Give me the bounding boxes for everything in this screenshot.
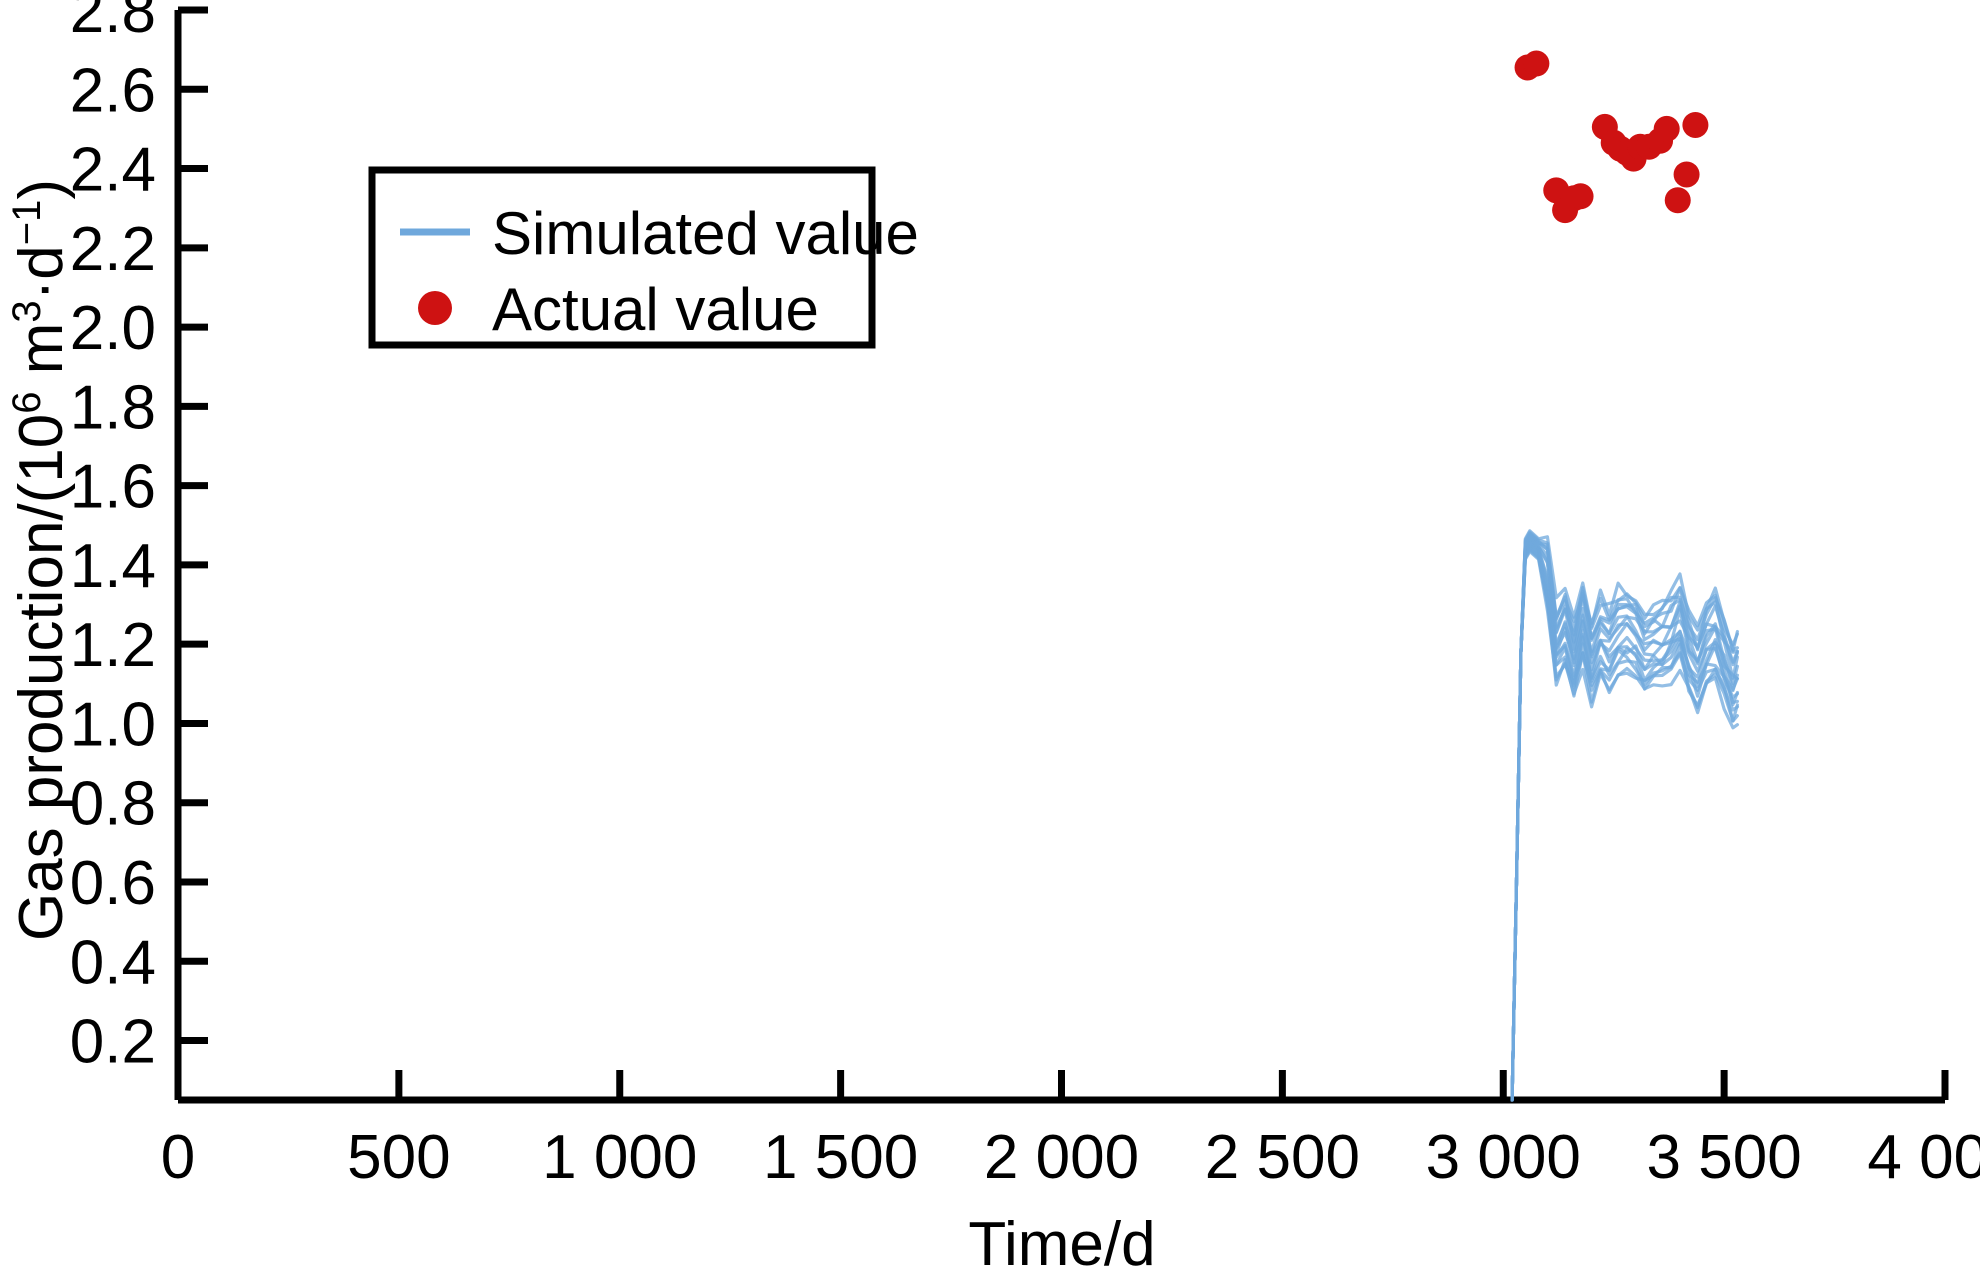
- y-tick-label: 1.0: [70, 690, 156, 759]
- y-tick-label: 2.6: [70, 56, 156, 125]
- y-title-suffix: ): [7, 179, 76, 200]
- x-tick-label: 2 500: [1205, 1123, 1360, 1192]
- chart-legend[interactable]: Simulated value Actual value: [372, 170, 919, 345]
- x-tick-label: 3 500: [1647, 1123, 1802, 1192]
- y-axis-title-text: Gas production/(106 m3·d−1): [5, 179, 76, 941]
- y-title-exp-3: 3: [5, 300, 49, 322]
- y-tick-label: 2.4: [70, 136, 156, 205]
- y-tick-label: 1.4: [70, 532, 156, 601]
- y-title-prefix: Gas production/(10: [7, 414, 76, 941]
- y-title-exp-6: 6: [5, 391, 49, 413]
- x-axis-title-text: Time/d: [968, 1210, 1155, 1279]
- chart-root: 0.20.40.60.81.01.21.41.61.82.02.22.42.62…: [0, 0, 1980, 1287]
- y-axis-title: Gas production/(106 m3·d−1): [5, 179, 76, 941]
- x-tick-label: 2 000: [984, 1123, 1139, 1192]
- y-tick-label: 0.4: [70, 928, 156, 997]
- y-tick-label: 1.6: [70, 453, 156, 522]
- x-tick-label: 0: [161, 1123, 195, 1192]
- actual-value-point: [1674, 161, 1700, 187]
- y-tick-label: 1.8: [70, 373, 156, 442]
- x-tick-label: 3 000: [1426, 1123, 1581, 1192]
- y-title-exp-minus1: −1: [5, 200, 49, 246]
- y-tick-label: 0.2: [70, 1008, 156, 1077]
- x-tick-label: 1 500: [763, 1123, 918, 1192]
- y-tick-label: 2.8: [70, 0, 156, 46]
- y-tick-label: 0.8: [70, 770, 156, 839]
- x-tick-label: 1 000: [542, 1123, 697, 1192]
- y-tick-label: 1.2: [70, 611, 156, 680]
- actual-value-point: [1523, 51, 1549, 77]
- y-title-mid: m: [7, 323, 76, 392]
- x-tick-label: 4 000: [1867, 1123, 1980, 1192]
- actual-value-point: [1682, 112, 1708, 138]
- legend-label-actual: Actual value: [492, 276, 819, 343]
- legend-label-simulated: Simulated value: [492, 200, 919, 267]
- y-tick-label: 2.0: [70, 294, 156, 363]
- y-tick-label: 0.6: [70, 849, 156, 918]
- y-title-dot-d: ·d: [7, 245, 76, 300]
- gas-production-chart: 0.20.40.60.81.01.21.41.61.82.02.22.42.62…: [0, 0, 1980, 1287]
- x-axis-title: Time/d: [968, 1210, 1155, 1279]
- actual-value-point: [1654, 116, 1680, 142]
- y-tick-label: 2.2: [70, 215, 156, 284]
- actual-value-point: [1665, 187, 1691, 213]
- legend-dot-swatch-icon: [418, 291, 452, 325]
- x-tick-label: 500: [347, 1123, 450, 1192]
- actual-value-point: [1568, 183, 1594, 209]
